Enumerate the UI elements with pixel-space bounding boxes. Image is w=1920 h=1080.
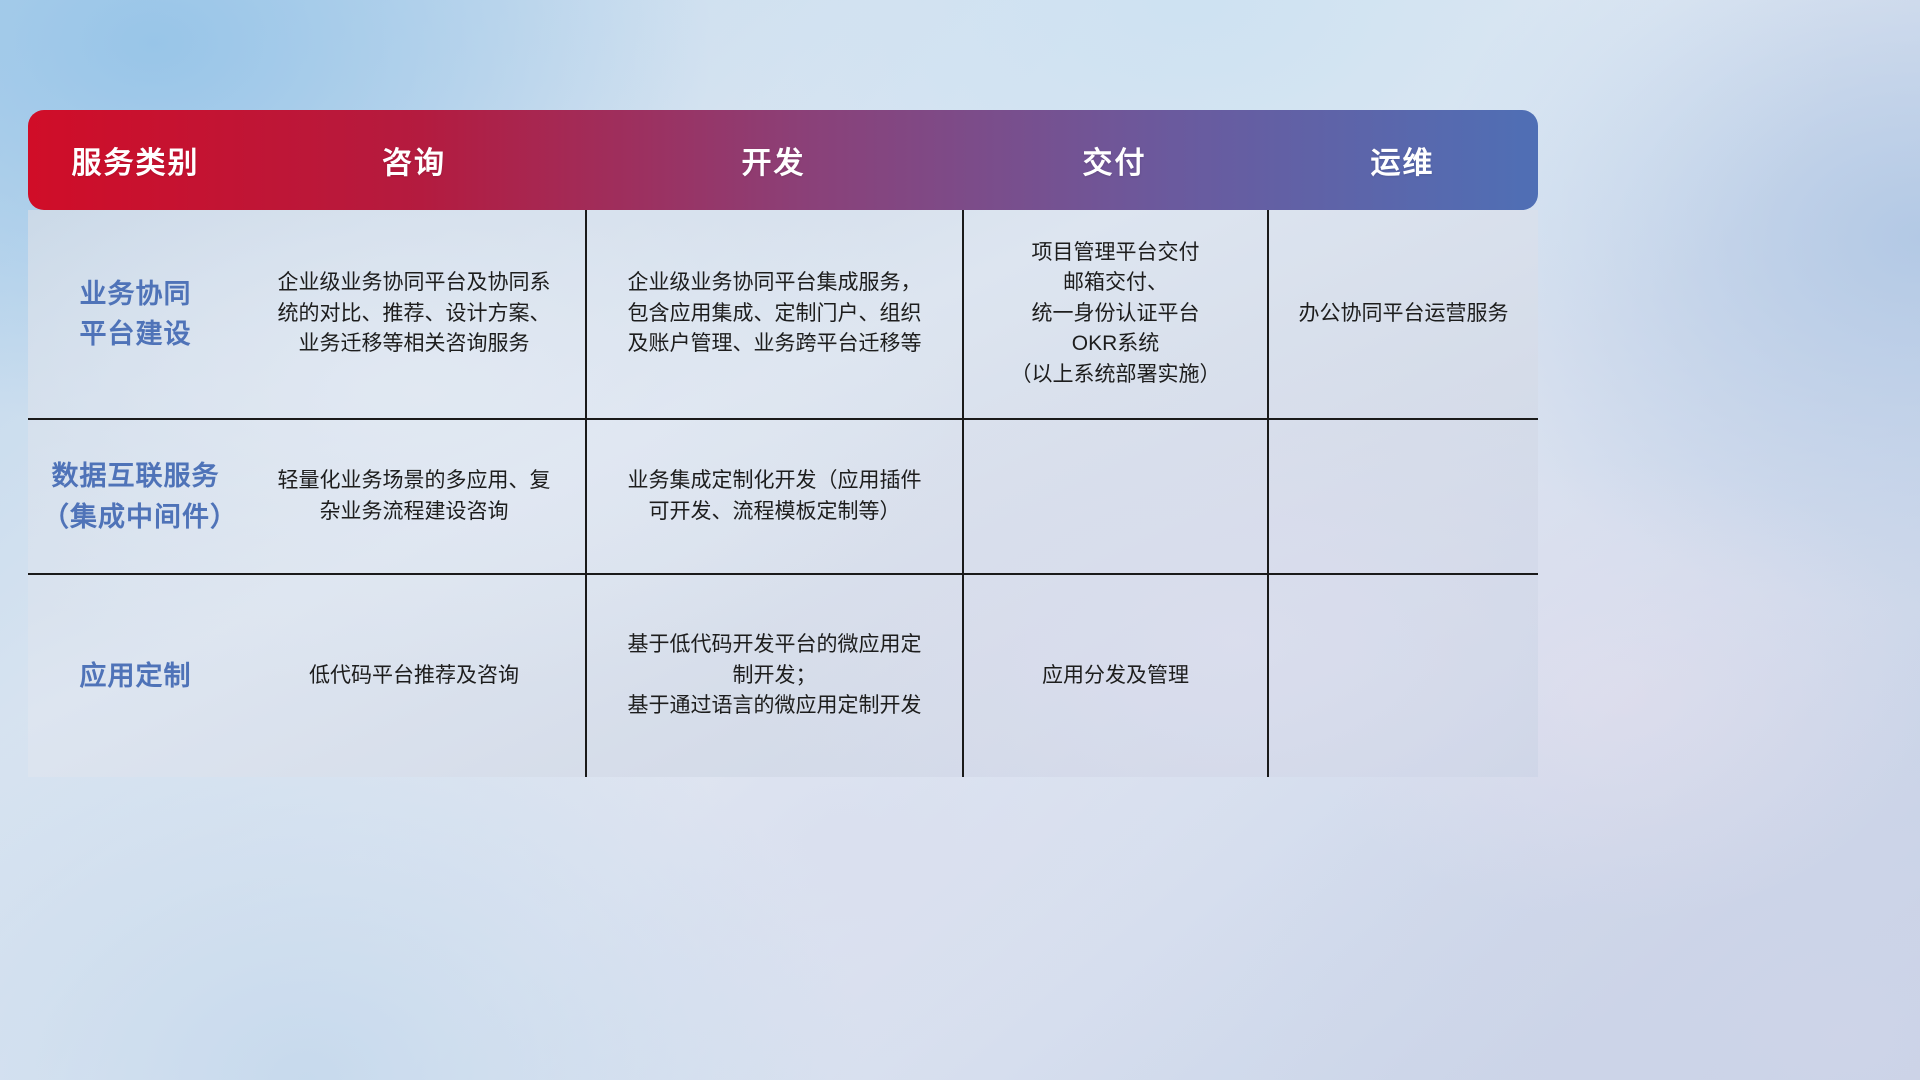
cell-delivery-r2 bbox=[962, 420, 1267, 573]
column-header-development: 开发 bbox=[585, 110, 962, 210]
cell-development-r1: 企业级业务协同平台集成服务， 包含应用集成、定制门户、组织 及账户管理、业务跨平… bbox=[585, 210, 962, 418]
column-header-delivery: 交付 bbox=[962, 110, 1267, 210]
table-row: 应用定制 低代码平台推荐及咨询 基于低代码开发平台的微应用定 制开发； 基于通过… bbox=[28, 573, 1538, 777]
row-label-app-customization: 应用定制 bbox=[28, 575, 243, 777]
service-matrix-table: 服务类别 咨询 开发 交付 运维 业务协同 平台建设 企业级业务协同平台及协同系… bbox=[28, 110, 1538, 780]
cell-consulting-r1: 企业级业务协同平台及协同系 统的对比、推荐、设计方案、 业务迁移等相关咨询服务 bbox=[243, 210, 585, 418]
cell-delivery-r3: 应用分发及管理 bbox=[962, 575, 1267, 777]
cell-consulting-r3: 低代码平台推荐及咨询 bbox=[243, 575, 585, 777]
cell-operations-r3 bbox=[1267, 575, 1538, 777]
cell-consulting-r2: 轻量化业务场景的多应用、复 杂业务流程建设咨询 bbox=[243, 420, 585, 573]
table-row: 业务协同 平台建设 企业级业务协同平台及协同系 统的对比、推荐、设计方案、 业务… bbox=[28, 210, 1538, 418]
cell-operations-r1: 办公协同平台运营服务 bbox=[1267, 210, 1538, 418]
table-row: 数据互联服务 （集成中间件） 轻量化业务场景的多应用、复 杂业务流程建设咨询 业… bbox=[28, 418, 1538, 573]
row-label-data-interconnect: 数据互联服务 （集成中间件） bbox=[28, 420, 243, 573]
cell-development-r2: 业务集成定制化开发（应用插件 可开发、流程模板定制等） bbox=[585, 420, 962, 573]
table-body: 业务协同 平台建设 企业级业务协同平台及协同系 统的对比、推荐、设计方案、 业务… bbox=[28, 210, 1538, 777]
row-label-collaboration-platform: 业务协同 平台建设 bbox=[28, 210, 243, 418]
column-header-operations: 运维 bbox=[1267, 110, 1538, 210]
table-header-row: 服务类别 咨询 开发 交付 运维 bbox=[28, 110, 1538, 210]
column-header-service-category: 服务类别 bbox=[28, 110, 243, 210]
cell-delivery-r1: 项目管理平台交付 邮箱交付、 统一身份认证平台 OKR系统 （以上系统部署实施） bbox=[962, 210, 1267, 418]
cell-operations-r2 bbox=[1267, 420, 1538, 573]
column-header-consulting: 咨询 bbox=[243, 110, 585, 210]
cell-development-r3: 基于低代码开发平台的微应用定 制开发； 基于通过语言的微应用定制开发 bbox=[585, 575, 962, 777]
